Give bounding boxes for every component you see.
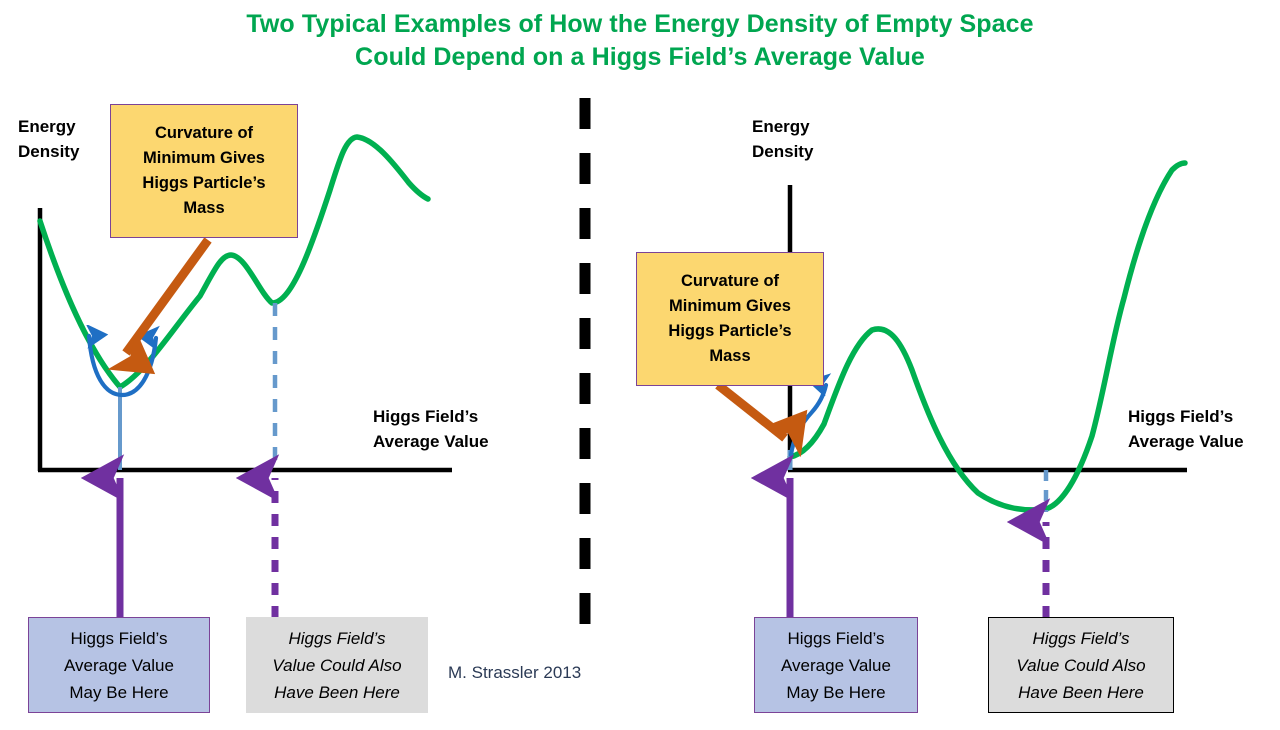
left-curvature-callout-text: Curvature of Minimum Gives Higgs Particl… <box>111 121 297 221</box>
left-alternate-value-tag-text: Higgs Field’s Value Could Also Have Been… <box>246 625 428 706</box>
right-energy-curve <box>790 163 1185 510</box>
right-current-value-tag-text: Higgs Field’s Average Value May Be Here <box>755 625 917 706</box>
author-credit: M. Strassler 2013 <box>448 663 581 683</box>
right-panel-graph <box>718 163 1187 618</box>
right-alternate-value-tag: Higgs Field’s Value Could Also Have Been… <box>988 617 1174 713</box>
diagram-canvas: Two Typical Examples of How the Energy D… <box>0 0 1280 730</box>
left-current-value-tag: Higgs Field’s Average Value May Be Here <box>28 617 210 713</box>
right-curvature-callout-text: Curvature of Minimum Gives Higgs Particl… <box>637 269 823 369</box>
left-x-axis-label: Higgs Field’s Average Value <box>373 404 533 454</box>
right-x-axis-label: Higgs Field’s Average Value <box>1128 404 1280 454</box>
right-y-axis-label: Energy Density <box>752 114 847 164</box>
left-curvature-callout: Curvature of Minimum Gives Higgs Particl… <box>110 104 298 238</box>
right-callout-pointer-arrow <box>718 385 785 438</box>
left-current-value-tag-text: Higgs Field’s Average Value May Be Here <box>29 625 209 706</box>
right-current-value-tag: Higgs Field’s Average Value May Be Here <box>754 617 918 713</box>
right-curvature-callout: Curvature of Minimum Gives Higgs Particl… <box>636 252 824 386</box>
left-y-axis-label: Energy Density <box>18 114 108 164</box>
right-alternate-value-tag-text: Higgs Field’s Value Could Also Have Been… <box>989 625 1173 706</box>
left-alternate-value-tag: Higgs Field’s Value Could Also Have Been… <box>246 617 428 713</box>
